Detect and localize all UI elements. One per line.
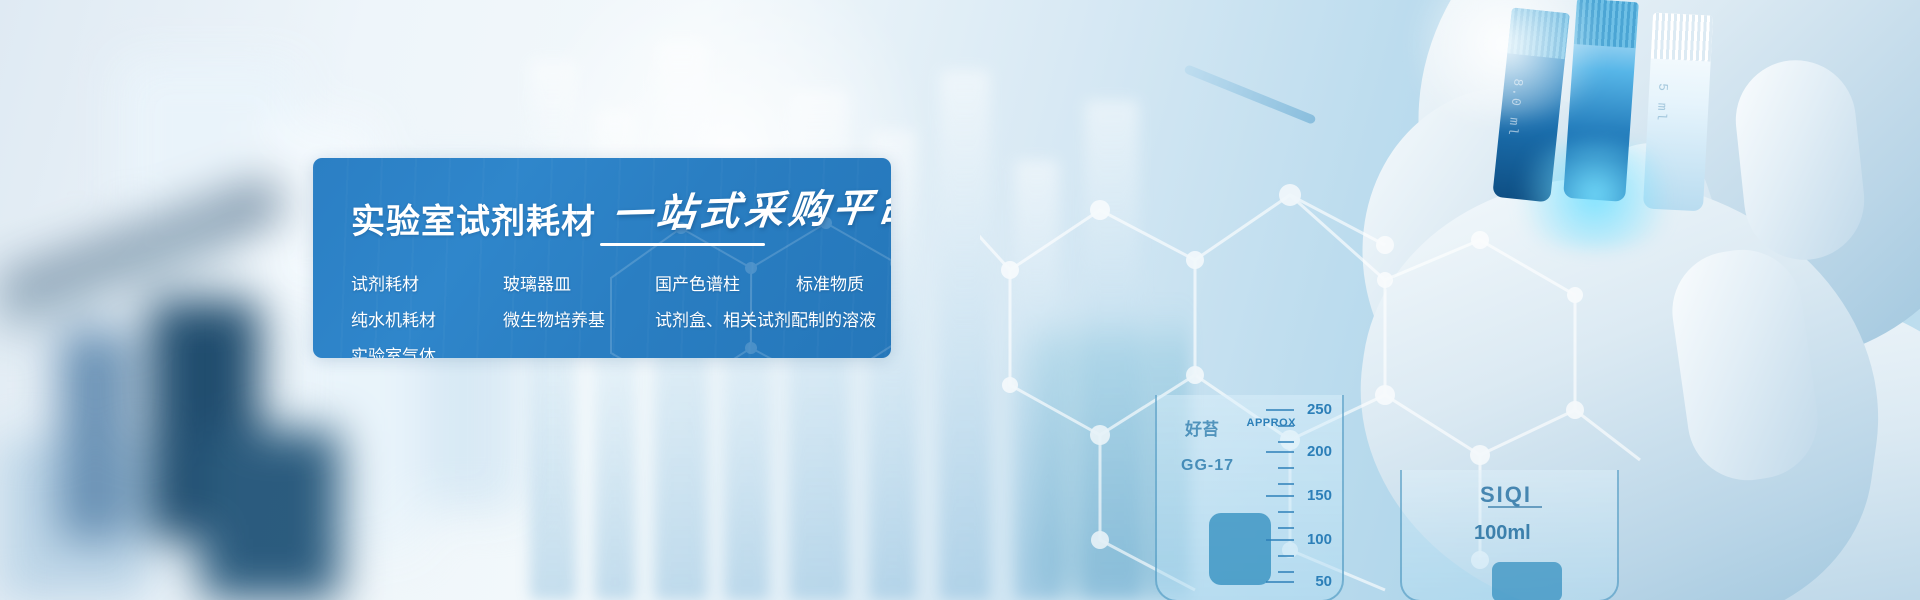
beaker-brand-label: 好苔 bbox=[1185, 415, 1219, 440]
beaker-graduation-150: 150 bbox=[1307, 487, 1332, 504]
beaker-graduation-50: 50 bbox=[1315, 573, 1332, 590]
promo-panel: 实验室试剂耗材 一站式采购平台 试剂耗材 玻璃器皿 国产色谱柱 标准物质 纯水机… bbox=[313, 158, 891, 358]
category-row-2: 纯水机耗材 微生物培养基 试剂盒、相关试剂配制的溶液 bbox=[351, 303, 891, 339]
beaker-graduation-100: 100 bbox=[1307, 531, 1332, 548]
category-link-water-purifier-consumables[interactable]: 纯水机耗材 bbox=[351, 313, 503, 330]
beaker-approx-label: APPROX bbox=[1247, 417, 1296, 429]
beaker-code-label: GG-17 bbox=[1181, 457, 1234, 475]
category-row-3: 实验室气体 bbox=[351, 339, 891, 358]
category-links: 试剂耗材 玻璃器皿 国产色谱柱 标准物质 纯水机耗材 微生物培养基 试剂盒、相关… bbox=[351, 267, 891, 358]
beaker-graduation-200: 200 bbox=[1307, 443, 1332, 460]
test-tube-3-label: 5 ml bbox=[1653, 83, 1670, 123]
category-link-glassware[interactable]: 玻璃器皿 bbox=[503, 277, 655, 294]
lab-reagent-banner: 8.0 ml 5 ml bbox=[0, 0, 1920, 600]
category-link-domestic-chromatography-column[interactable]: 国产色谱柱 bbox=[655, 277, 740, 294]
category-link-reagent-kits-solutions[interactable]: 试剂盒、相关试剂配制的溶液 bbox=[655, 313, 876, 330]
headline-primary: 实验室试剂耗材 bbox=[351, 205, 596, 239]
headline-accent-wrap: 一站式采购平台 bbox=[610, 196, 891, 239]
category-row-1: 试剂耗材 玻璃器皿 国产色谱柱 标准物质 bbox=[351, 267, 891, 303]
beaker-secondary: SIQI 100ml bbox=[1400, 470, 1619, 600]
category-link-reference-materials[interactable]: 标准物质 bbox=[796, 277, 864, 294]
beaker-secondary-volume: 100ml bbox=[1474, 522, 1531, 545]
beaker-graduation-250: 250 bbox=[1307, 401, 1332, 418]
headline-accent: 一站式采购平台 bbox=[610, 187, 891, 235]
beaker-main: 好苔 GG-17 APPROX 250 200 150 100 50 bbox=[1155, 395, 1344, 600]
headline-underline bbox=[600, 243, 765, 246]
category-link-reagent-consumables[interactable]: 试剂耗材 bbox=[351, 277, 503, 294]
beaker-secondary-brand: SIQI bbox=[1480, 482, 1532, 508]
category-link-laboratory-gases[interactable]: 实验室气体 bbox=[351, 349, 503, 359]
headline: 实验室试剂耗材 一站式采购平台 bbox=[351, 196, 891, 239]
category-link-microbial-culture-media[interactable]: 微生物培养基 bbox=[503, 313, 655, 330]
pipette-icon bbox=[1183, 64, 1316, 125]
